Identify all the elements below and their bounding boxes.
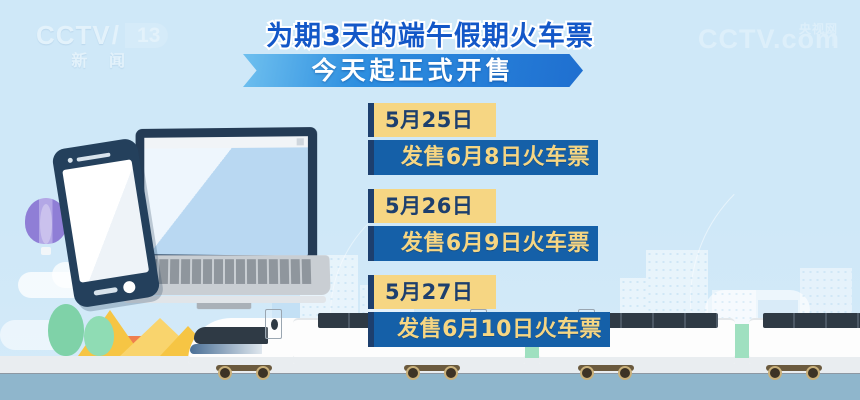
- schedule-sale-text: 发售6月8日火车票: [401, 147, 590, 169]
- train-windows: [763, 313, 860, 328]
- phone-home-button: [122, 280, 136, 294]
- screen-titlebar: [144, 136, 308, 148]
- phone-screen: [62, 159, 149, 283]
- schedule-date: 5月26日: [385, 196, 473, 217]
- train-bogie: [216, 363, 272, 376]
- train-nose: [188, 318, 306, 364]
- schedule-sale-bar: 发售6月10日火车票: [368, 312, 610, 347]
- train-bogie: [404, 363, 460, 376]
- train-coupling: [735, 324, 749, 358]
- train-bogie: [766, 363, 822, 376]
- laptop-lid: [136, 127, 318, 265]
- ground-strip: [0, 374, 860, 400]
- train-bogie: [578, 363, 634, 376]
- laptop-foot: [124, 296, 326, 303]
- schedule-sale-text: 发售6月10日火车票: [397, 319, 602, 341]
- phone-bottom-bar: [93, 287, 117, 296]
- schedule-date-bar: 5月25日: [368, 103, 496, 137]
- headline-banner: 今天起正式开售: [243, 54, 583, 87]
- phone-camera: [67, 157, 73, 163]
- channel-subtitle: 新 闻: [36, 53, 168, 69]
- headline-line-2: 今天起正式开售: [311, 58, 514, 83]
- schedule-sale-bar: 发售6月8日火车票: [368, 140, 598, 175]
- schedule-date-bar: 5月26日: [368, 189, 496, 223]
- train-door: [265, 309, 282, 339]
- schedule-row: 5月25日 发售6月8日火车票: [368, 103, 610, 175]
- laptop-keyboard: [137, 259, 313, 284]
- headline-line-1: 为期3天的端午假期火车票: [0, 22, 860, 52]
- schedule-row: 5月27日 发售6月10日火车票: [368, 275, 610, 347]
- broadcast-graphic: CCTV / 13 新 闻 央视网 CCTV.com 为期3天的端午假期火车票 …: [0, 0, 860, 400]
- schedule-sale-text: 发售6月9日火车票: [401, 233, 590, 255]
- schedule-date: 5月27日: [385, 282, 473, 303]
- schedule-sale-bar: 发售6月9日火车票: [368, 226, 598, 261]
- schedule-date-bar: 5月27日: [368, 275, 496, 309]
- schedule-row: 5月26日 发售6月9日火车票: [368, 189, 610, 261]
- phone-speaker: [76, 153, 110, 162]
- schedule-list: 5月25日 发售6月8日火车票 5月26日 发售6月9日火车票 5月27日 发售…: [368, 103, 610, 361]
- laptop-screen: [144, 136, 308, 256]
- schedule-date: 5月25日: [385, 110, 473, 131]
